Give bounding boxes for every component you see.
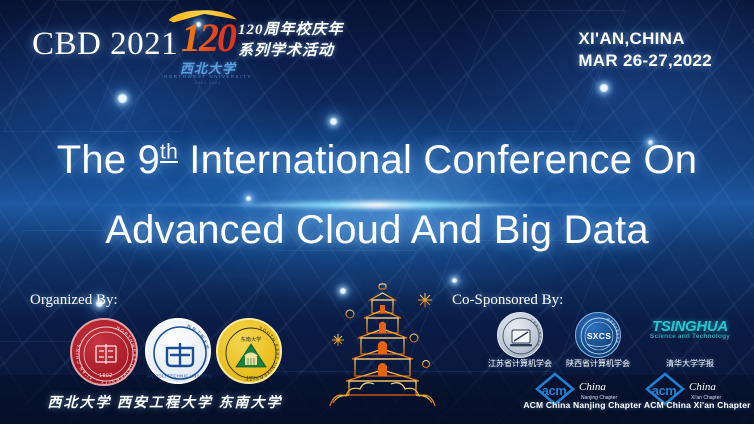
- acm-chapters-caption: ACM China Nanjing Chapter ACM China Xi'a…: [520, 400, 754, 410]
- logo-tsinghua-subtitle: Science and Technology: [640, 333, 740, 340]
- anniversary-slogan-line2: 系列学术活动: [238, 41, 344, 62]
- svg-text:China: China: [689, 381, 716, 393]
- anniversary-slogan-line1: 120周年校庆年: [238, 20, 344, 41]
- pagoda-icon: [322, 278, 444, 410]
- anniversary-university-years: 1902-2022: [152, 81, 264, 85]
- seal-northwest-university: NORTHWEST UNIVERSITY · XI'AN CHINA · 190…: [70, 318, 138, 386]
- event-location: XI'AN,CHINA: [578, 28, 712, 50]
- logo-jiangsu-computer-society: 江苏省计算机学会: [497, 312, 543, 358]
- svg-text:acm: acm: [542, 383, 567, 398]
- title-line1-pre: The 9: [57, 138, 160, 182]
- svg-text:1902: 1902: [247, 375, 257, 380]
- svg-text:江苏省计算机学会: 江苏省计算机学会: [529, 317, 543, 348]
- svg-text:东南大学: 东南大学: [241, 335, 262, 343]
- svg-text:acm: acm: [652, 383, 677, 398]
- co-sponsored-by-label: Co-Sponsored By:: [452, 292, 563, 309]
- svg-text:1902: 1902: [99, 373, 113, 379]
- title-line1-post: International Conference On: [178, 138, 697, 182]
- event-place-date: XI'AN,CHINA MAR 26-27,2022: [578, 28, 712, 72]
- anniversary-university-en: NORTHWEST UNIVERSITY: [152, 74, 264, 79]
- logo-shaanxi-computer-society: 陕西省计算机学会 SXCS: [575, 312, 621, 358]
- svg-text:XI'AN POLYTECHNIC UNIVERSITY: XI'AN POLYTECHNIC UNIVERSITY: [147, 374, 213, 379]
- conference-title-line2: Advanced Cloud And Big Data: [0, 208, 754, 253]
- svg-text:西安工程大学: 西安工程大学: [186, 324, 211, 350]
- seal-xian-polytechnic-university: 西安工程大学 XI'AN POLYTECHNIC UNIVERSITY: [145, 318, 211, 384]
- event-dates: MAR 26-27,2022: [578, 50, 712, 72]
- conference-banner: CBD 2021 120 西北大学 NORTHWEST UNIVERSITY 1…: [0, 0, 754, 424]
- light-spark: [330, 118, 337, 125]
- light-spark: [600, 84, 608, 92]
- anniversary-slogan: 120周年校庆年 系列学术活动: [238, 20, 344, 62]
- logo-caption-shaanxi: 陕西省计算机学会: [550, 358, 646, 369]
- seal-southeast-university: SOUTH EAST UNIVERSITY · 东南大学 1902: [216, 318, 282, 384]
- conference-title-line1: The 9th International Conference On: [0, 138, 754, 183]
- light-spark: [246, 196, 251, 201]
- title-ordinal-suffix: th: [160, 141, 178, 164]
- light-spark: [118, 94, 127, 103]
- organizer-names: 西北大学 西安工程大学 东南大学: [0, 392, 330, 412]
- light-spark: [452, 278, 457, 283]
- svg-text:SXCS: SXCS: [587, 331, 611, 341]
- svg-text:China: China: [579, 381, 606, 393]
- organized-by-label: Organized By:: [30, 292, 118, 309]
- logo-caption-tsinghua: 清华大学学报: [642, 358, 738, 369]
